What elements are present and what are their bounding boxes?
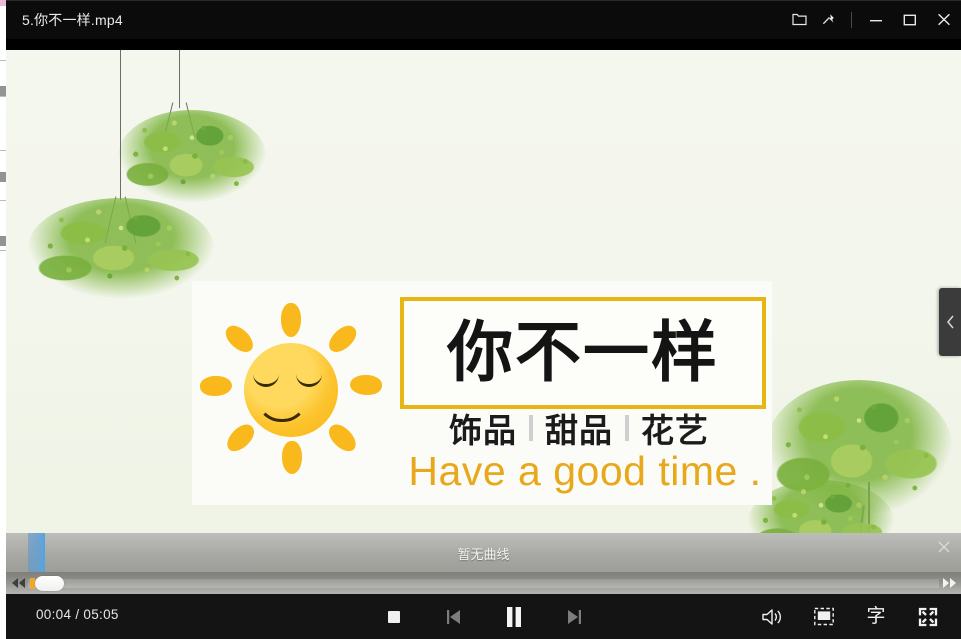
pause-icon [504,606,524,628]
video-player-window: 5.你不一样.mp4 [0,0,961,639]
previous-button[interactable] [437,600,471,634]
volume-button[interactable] [755,600,789,634]
pin-icon[interactable] [814,0,844,39]
playback-control-bar: 00:04 / 05:05 [6,594,961,639]
category-divider [625,415,629,441]
category-divider [529,415,533,441]
picture-in-picture-button[interactable] [807,600,841,634]
pause-button[interactable] [497,600,531,634]
subtitle-icon: 字 [866,607,885,626]
window-controls [784,0,961,39]
previous-track-icon [444,608,464,626]
seek-track[interactable] [28,579,939,588]
fast-forward-icon[interactable] [940,576,958,590]
sun-face [244,343,338,437]
pip-icon [813,607,835,626]
window-title: 5.你不一样.mp4 [22,10,123,30]
window-controls-divider [851,12,852,28]
logo-category-2: 花艺 [641,404,709,452]
curve-empty-message: 暂无曲线 [6,544,961,563]
folder-icon[interactable] [784,0,814,39]
stop-icon [386,609,402,625]
logo-headline-box: 你不一样 [400,297,766,409]
title-bar[interactable]: 5.你不一样.mp4 [6,0,961,39]
brand-logo: 你不一样 饰品 甜品 花艺 Have a good time . [192,281,772,505]
logo-headline: 你不一样 [404,320,762,386]
maximize-icon[interactable] [893,0,927,39]
minimize-icon[interactable] [859,0,893,39]
subtitle-button[interactable]: 字 [859,600,893,634]
seek-thumb[interactable] [35,576,64,591]
close-icon[interactable] [927,0,961,39]
logo-category-0: 饰品 [449,404,517,452]
curve-overlay-panel[interactable]: 暂无曲线 [6,533,961,572]
fullscreen-button[interactable] [911,600,945,634]
fullscreen-icon [918,607,938,627]
stop-button[interactable] [377,600,411,634]
logo-tagline: Have a good time . [400,451,770,492]
next-track-icon [564,608,584,626]
curve-panel-close-icon[interactable] [936,539,952,555]
secondary-controls: 字 [755,594,945,639]
chevron-left-icon [946,315,955,329]
sun-illustration [204,303,376,475]
video-stage[interactable]: 你不一样 饰品 甜品 花艺 Have a good time . [6,39,961,594]
seek-bar[interactable] [6,572,961,594]
logo-categories: 饰品 甜品 花艺 [400,407,758,449]
video-frame: 你不一样 饰品 甜品 花艺 Have a good time . [6,50,961,594]
next-button[interactable] [557,600,591,634]
logo-category-1: 甜品 [545,404,613,452]
rewind-icon[interactable] [9,576,27,590]
side-panel-toggle[interactable] [939,288,961,356]
volume-icon [761,607,783,627]
